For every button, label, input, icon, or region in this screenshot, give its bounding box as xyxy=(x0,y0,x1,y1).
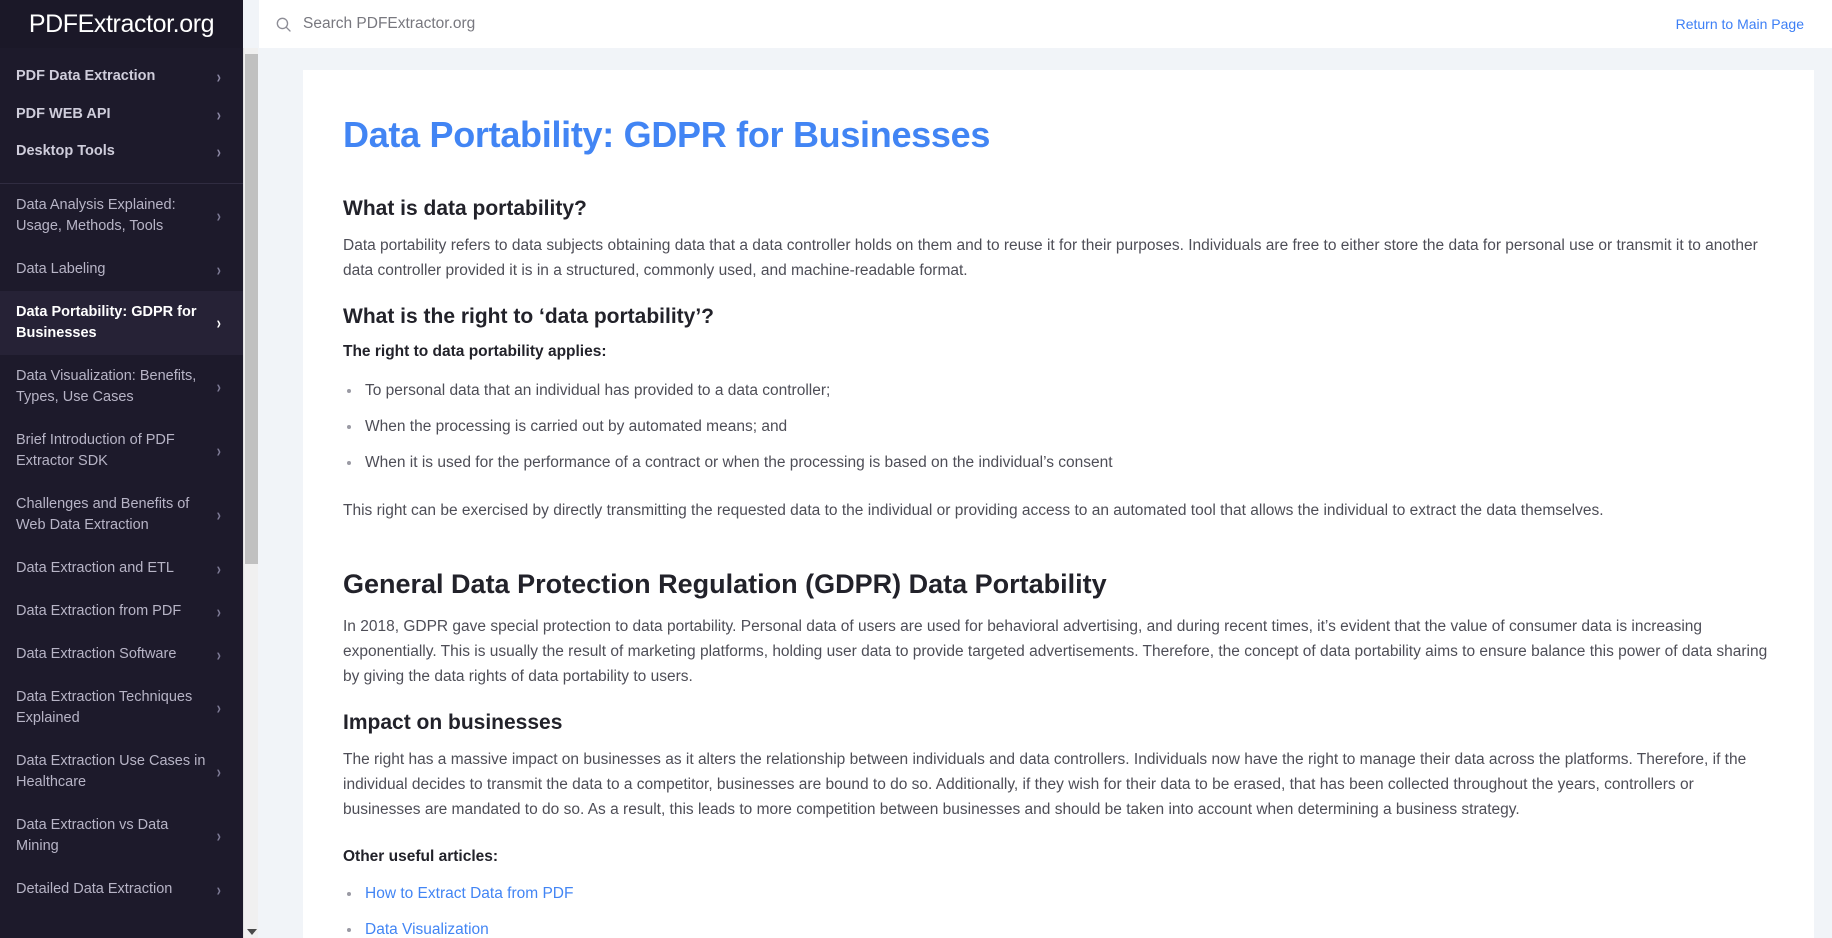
section-heading-what-is-data-portability: What is data portability? xyxy=(343,195,1774,222)
other-useful-articles-list: How to Extract Data from PDF Data Visual… xyxy=(343,882,1774,938)
sidebar-item-data-labeling[interactable]: Data Labeling › xyxy=(0,248,243,291)
chevron-right-icon: › xyxy=(217,442,221,460)
list-item: To personal data that an individual has … xyxy=(343,379,1774,404)
page-title: Data Portability: GDPR for Businesses xyxy=(343,114,1774,155)
list-item: When it is used for the performance of a… xyxy=(343,451,1774,476)
article-card: Data Portability: GDPR for Businesses Wh… xyxy=(303,70,1814,938)
section-heading-gdpr-data-portability: General Data Protection Regulation (GDPR… xyxy=(343,567,1774,602)
chevron-right-icon: › xyxy=(217,881,221,899)
app-root: PDFExtractor.org PDF Data Extraction › P… xyxy=(0,0,1832,938)
sidebar-item-label: Detailed Data Extraction xyxy=(16,879,182,900)
section-body-right-exercised: This right can be exercised by directly … xyxy=(343,498,1774,523)
search-icon xyxy=(275,16,292,33)
sidebar-item-data-extraction-from-pdf[interactable]: Data Extraction from PDF › xyxy=(0,590,243,633)
chevron-right-icon: › xyxy=(217,207,221,225)
sidebar-item-pdf-data-extraction[interactable]: PDF Data Extraction › xyxy=(0,58,243,96)
article-link-how-to-extract-data-from-pdf[interactable]: How to Extract Data from PDF xyxy=(365,885,573,902)
sidebar-item-label: PDF Data Extraction xyxy=(16,67,155,87)
sidebar-item-label: Data Visualization: Benefits, Types, Use… xyxy=(16,366,217,408)
sidebar-item-challenges-benefits-web-data-extraction[interactable]: Challenges and Benefits of Web Data Extr… xyxy=(0,483,243,547)
top-bar: Return to Main Page xyxy=(259,0,1832,48)
sidebar-item-label: Brief Introduction of PDF Extractor SDK xyxy=(16,430,217,472)
sidebar-item-data-portability-gdpr[interactable]: Data Portability: GDPR for Businesses › xyxy=(0,291,243,355)
sidebar-item-desktop-tools[interactable]: Desktop Tools › xyxy=(0,133,243,171)
sidebar-item-data-extraction-vs-data-mining[interactable]: Data Extraction vs Data Mining › xyxy=(0,804,243,868)
section-body-gdpr-data-portability: In 2018, GDPR gave special protection to… xyxy=(343,614,1774,689)
other-useful-articles-heading: Other useful articles: xyxy=(343,848,1774,866)
sidebar-item-label: Data Extraction vs Data Mining xyxy=(16,815,217,857)
chevron-right-icon: › xyxy=(217,378,221,396)
chevron-right-icon: › xyxy=(217,260,221,278)
search-container xyxy=(275,15,1676,33)
chevron-right-icon: › xyxy=(217,68,221,86)
chevron-right-icon: › xyxy=(217,603,221,621)
chevron-right-icon: › xyxy=(217,763,221,781)
sidebar-item-label: Data Extraction Techniques Explained xyxy=(16,687,217,729)
sidebar-primary-group: PDF Data Extraction › PDF WEB API › Desk… xyxy=(0,58,243,179)
sidebar-article-group: Data Analysis Explained: Usage, Methods,… xyxy=(0,184,243,911)
sidebar-nav: PDF Data Extraction › PDF WEB API › Desk… xyxy=(0,48,243,938)
chevron-right-icon: › xyxy=(217,143,221,161)
sidebar-item-brief-introduction-pdf-extractor-sdk[interactable]: Brief Introduction of PDF Extractor SDK … xyxy=(0,419,243,483)
return-to-main-page-link[interactable]: Return to Main Page xyxy=(1676,16,1804,32)
section-lead-right-applies: The right to data portability applies: xyxy=(343,340,1774,363)
right-applies-bullet-list: To personal data that an individual has … xyxy=(343,379,1774,475)
sidebar-item-data-extraction-and-etl[interactable]: Data Extraction and ETL › xyxy=(0,547,243,590)
brand-name: PDFExtractor.org xyxy=(29,10,214,39)
sidebar-item-label: Data Extraction and ETL xyxy=(16,558,184,579)
chevron-right-icon: › xyxy=(217,560,221,578)
article-link-data-visualization[interactable]: Data Visualization xyxy=(365,921,489,938)
chevron-right-icon: › xyxy=(217,506,221,524)
list-item: How to Extract Data from PDF xyxy=(343,882,1774,907)
sidebar-item-data-extraction-techniques-explained[interactable]: Data Extraction Techniques Explained › xyxy=(0,676,243,740)
sidebar-scrollbar-thumb[interactable] xyxy=(245,54,258,564)
chevron-right-icon: › xyxy=(217,646,221,664)
scroll-down-arrow-icon[interactable] xyxy=(247,929,257,935)
sidebar-item-label: Challenges and Benefits of Web Data Extr… xyxy=(16,494,217,536)
sidebar-item-data-visualization[interactable]: Data Visualization: Benefits, Types, Use… xyxy=(0,355,243,419)
section-heading-right-to-data-portability: What is the right to ‘data portability’? xyxy=(343,303,1774,330)
sidebar-item-data-extraction-use-cases-healthcare[interactable]: Data Extraction Use Cases in Healthcare … xyxy=(0,740,243,804)
sidebar-item-label: Data Portability: GDPR for Businesses xyxy=(16,302,217,344)
sidebar-item-data-analysis-explained[interactable]: Data Analysis Explained: Usage, Methods,… xyxy=(0,184,243,248)
chevron-right-icon: › xyxy=(217,827,221,845)
sidebar: PDFExtractor.org PDF Data Extraction › P… xyxy=(0,0,243,938)
sidebar-item-label: Data Extraction Use Cases in Healthcare xyxy=(16,751,217,793)
sidebar-item-detailed-data-extraction[interactable]: Detailed Data Extraction › xyxy=(0,868,243,911)
sidebar-item-label: Data Labeling xyxy=(16,259,116,280)
sidebar-item-pdf-web-api[interactable]: PDF WEB API › xyxy=(0,96,243,134)
section-body-what-is-data-portability: Data portability refers to data subjects… xyxy=(343,233,1774,283)
chevron-right-icon: › xyxy=(217,699,221,717)
sidebar-item-data-extraction-software[interactable]: Data Extraction Software › xyxy=(0,633,243,676)
brand-logo[interactable]: PDFExtractor.org xyxy=(0,0,243,48)
section-heading-impact-on-businesses: Impact on businesses xyxy=(343,709,1774,736)
chevron-right-icon: › xyxy=(217,106,221,124)
chevron-right-icon: › xyxy=(217,314,221,332)
sidebar-item-label: Data Extraction from PDF xyxy=(16,601,191,622)
section-body-impact-on-businesses: The right has a massive impact on busine… xyxy=(343,747,1774,822)
sidebar-scrollbar[interactable] xyxy=(243,48,258,938)
list-item: Data Visualization xyxy=(343,918,1774,938)
sidebar-item-label: Data Extraction Software xyxy=(16,644,186,665)
main-column: Return to Main Page Data Portability: GD… xyxy=(259,0,1832,938)
list-item: When the processing is carried out by au… xyxy=(343,415,1774,440)
sidebar-item-label: Data Analysis Explained: Usage, Methods,… xyxy=(16,195,217,237)
search-input[interactable] xyxy=(303,15,723,33)
sidebar-item-label: Desktop Tools xyxy=(16,142,115,162)
sidebar-item-label: PDF WEB API xyxy=(16,105,111,125)
content-area: Data Portability: GDPR for Businesses Wh… xyxy=(259,48,1832,938)
